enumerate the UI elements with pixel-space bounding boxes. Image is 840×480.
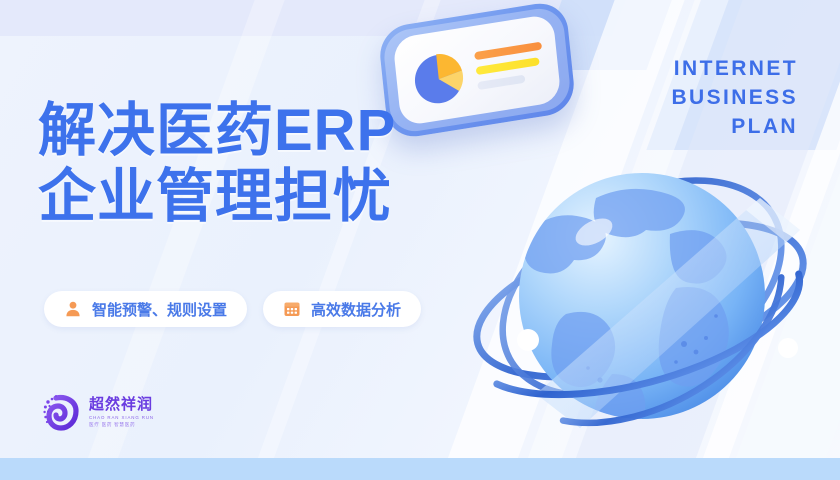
orbit-node: [517, 329, 539, 351]
eyebrow-text: INTERNET BUSINESS PLAN: [671, 54, 798, 141]
feature-tag-label: 智能预警、规则设置: [92, 299, 227, 320]
page-title: 解决医药ERP 企业管理担忧: [38, 98, 396, 230]
headline-line-2: 企业管理担忧: [38, 164, 396, 230]
feature-tags: 智能预警、规则设置 高效数据分析: [44, 291, 421, 327]
user-icon: [64, 300, 82, 318]
logo-name-cn: 超然祥润: [89, 397, 154, 413]
card-bars: [474, 42, 545, 90]
eyebrow-line-1: INTERNET: [671, 54, 798, 83]
feature-tag-label: 高效数据分析: [311, 299, 401, 320]
pie-chart-icon: [410, 46, 469, 108]
logo-name-pinyin: CHAO RAN XIANG RUN: [89, 414, 154, 421]
banner-root: INTERNET BUSINESS PLAN 解决医药ERP 企业管理担忧 智能…: [0, 0, 840, 480]
yellow-bar: [476, 57, 540, 75]
eyebrow-line-3: PLAN: [671, 112, 798, 141]
bottom-accent-bar: [0, 458, 840, 480]
feature-tag-alert[interactable]: 智能预警、规则设置: [44, 291, 247, 327]
placeholder-bar: [477, 75, 525, 90]
earth-globe: [470, 138, 810, 468]
logo-text-block: 超然祥润 CHAO RAN XIANG RUN 医疗 医药 智慧医药: [89, 397, 154, 428]
feature-tag-analytics[interactable]: 高效数据分析: [263, 291, 421, 327]
orbit-node: [778, 338, 798, 358]
calendar-grid-icon: [283, 300, 301, 318]
logo-tagline: 医疗 医药 智慧医药: [89, 421, 154, 428]
eyebrow-line-2: BUSINESS: [671, 83, 798, 112]
headline-line-1: 解决医药ERP: [38, 98, 396, 164]
brand-logo[interactable]: 超然祥润 CHAO RAN XIANG RUN 医疗 医药 智慧医药: [42, 392, 154, 432]
logo-mark-icon: [42, 392, 82, 432]
